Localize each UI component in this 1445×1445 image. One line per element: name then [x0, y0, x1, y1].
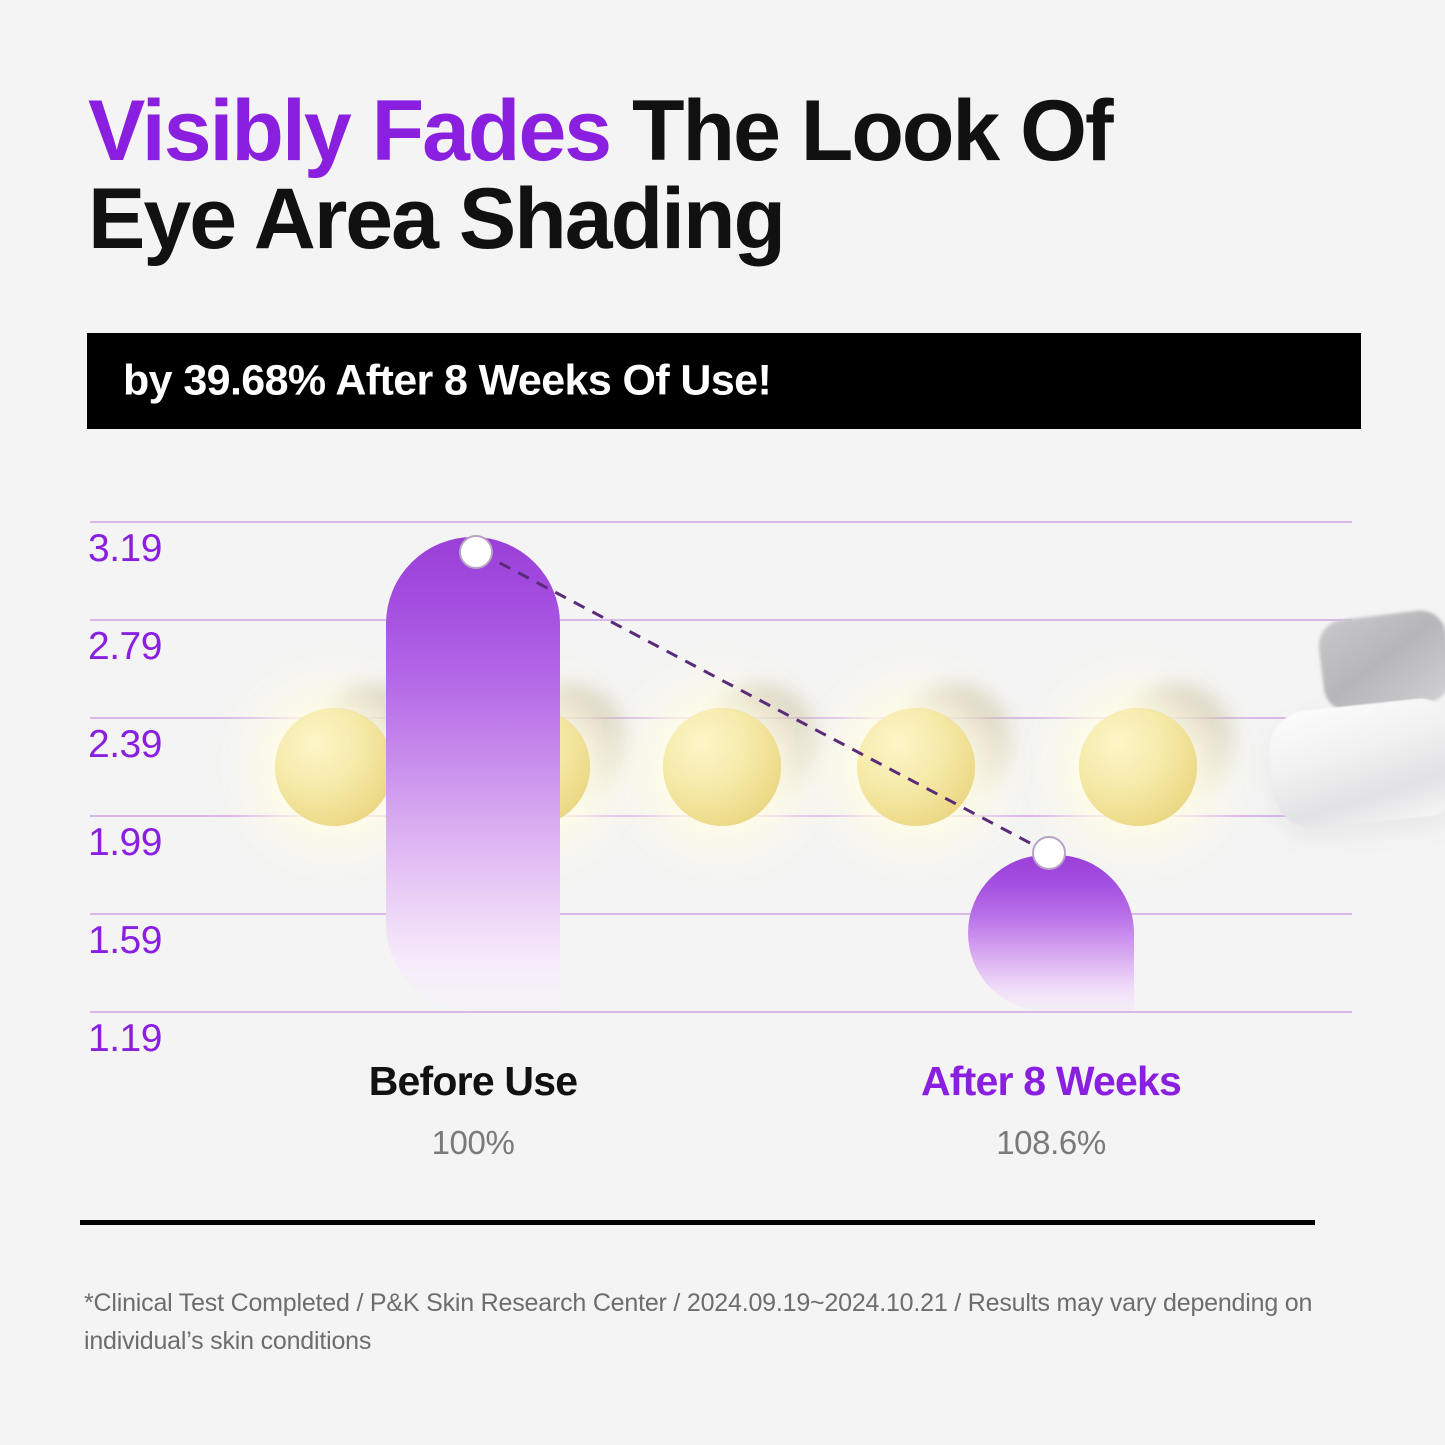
- footer-divider: [80, 1220, 1315, 1225]
- ytick-label-5: 1.19: [88, 1017, 162, 1061]
- category-label-after-8-weeks: After 8 Weeks: [871, 1058, 1231, 1105]
- infographic-page: Visibly Fades The Look Of Eye Area Shadi…: [0, 0, 1445, 1445]
- category-pct-before-use: 100%: [293, 1124, 653, 1162]
- ytick-label-4: 1.59: [88, 919, 162, 963]
- marker-after-8-weeks: [1032, 836, 1066, 870]
- decor-sphere-5: [1079, 708, 1197, 826]
- ytick-label-3: 1.99: [88, 821, 162, 865]
- gridline-3-19: [90, 521, 1352, 523]
- gridline-1-19: [90, 1011, 1352, 1013]
- ytick-label-1: 2.79: [88, 625, 162, 669]
- ytick-label-0: 3.19: [88, 527, 162, 571]
- ytick-label-2: 2.39: [88, 723, 162, 767]
- bar-after-8-weeks-fill: [968, 855, 1134, 1011]
- decor-sphere-1: [275, 708, 393, 826]
- gridline-2-79: [90, 619, 1352, 621]
- category-pct-after-8-weeks: 108.6%: [871, 1124, 1231, 1162]
- marker-before-use: [459, 535, 493, 569]
- bar-before-use-fill: [386, 537, 560, 1011]
- decor-sphere-4: [857, 708, 975, 826]
- bar-chart: 3.19 2.79 2.39 1.99 1.59 1.19 Before Use…: [0, 0, 1445, 1445]
- product-tube: [1265, 696, 1445, 832]
- bar-after-8-weeks: [968, 855, 1134, 1011]
- category-label-before-use: Before Use: [293, 1058, 653, 1105]
- footnote-text: *Clinical Test Completed / P&K Skin Rese…: [84, 1285, 1314, 1360]
- bar-before-use: [386, 537, 560, 1011]
- decor-sphere-3: [663, 708, 781, 826]
- gridline-1-59: [90, 913, 1352, 915]
